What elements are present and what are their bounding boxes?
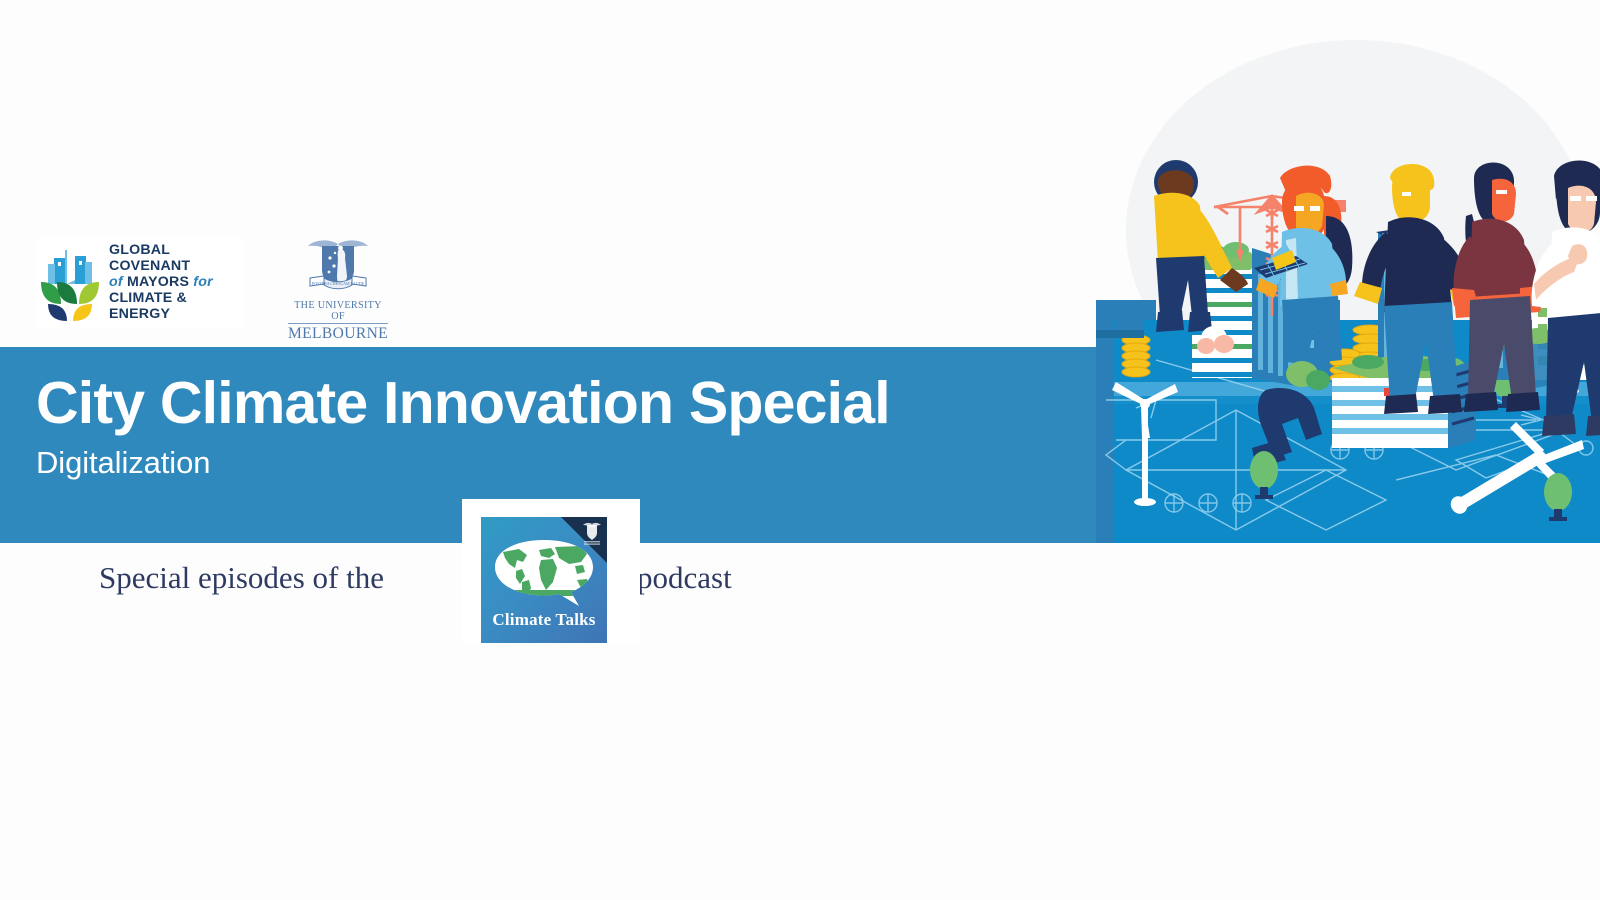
svg-text:POSTERA CRESCAM LAUDE: POSTERA CRESCAM LAUDE bbox=[312, 281, 365, 286]
gcom-logo-wordmark: GLOBAL COVENANT of MAYORS for CLIMATE & … bbox=[109, 243, 243, 323]
globe-speech-bubble-icon bbox=[489, 538, 599, 608]
gcom-for: for bbox=[193, 274, 213, 290]
podcast-title: Climate Talks bbox=[481, 610, 607, 630]
podcast-badge[interactable]: Climate Talks bbox=[462, 499, 640, 643]
page-title: City Climate Innovation Special bbox=[36, 369, 890, 437]
podcast-cover-art: Climate Talks bbox=[481, 517, 607, 643]
gcom-logo-mark bbox=[37, 242, 103, 324]
illustration-svg bbox=[1096, 0, 1600, 543]
unimelb-line-2: MELBOURNE bbox=[288, 325, 388, 343]
gcom-logo: GLOBAL COVENANT of MAYORS for CLIMATE & … bbox=[35, 238, 243, 328]
unimelb-crest-icon: POSTERA CRESCAM LAUDE bbox=[302, 236, 374, 298]
gcom-line-1: GLOBAL COVENANT bbox=[109, 243, 243, 275]
tagline-before: Special episodes of the bbox=[99, 560, 384, 596]
gcom-of: of bbox=[109, 274, 123, 290]
tagline-after: podcast bbox=[637, 560, 732, 596]
gcom-line-3: CLIMATE & ENERGY bbox=[109, 291, 243, 323]
gcom-line-2: of MAYORS for bbox=[109, 275, 243, 291]
unimelb-logo: POSTERA CRESCAM LAUDE THE UNIVERSITY OF … bbox=[288, 236, 388, 332]
logo-strip: GLOBAL COVENANT of MAYORS for CLIMATE & … bbox=[0, 228, 1096, 340]
page-subtitle: Digitalization bbox=[36, 445, 210, 481]
city-climate-illustration bbox=[1096, 0, 1600, 543]
unimelb-line-1: THE UNIVERSITY OF bbox=[288, 300, 388, 324]
gcom-mayors: MAYORS bbox=[127, 274, 189, 290]
